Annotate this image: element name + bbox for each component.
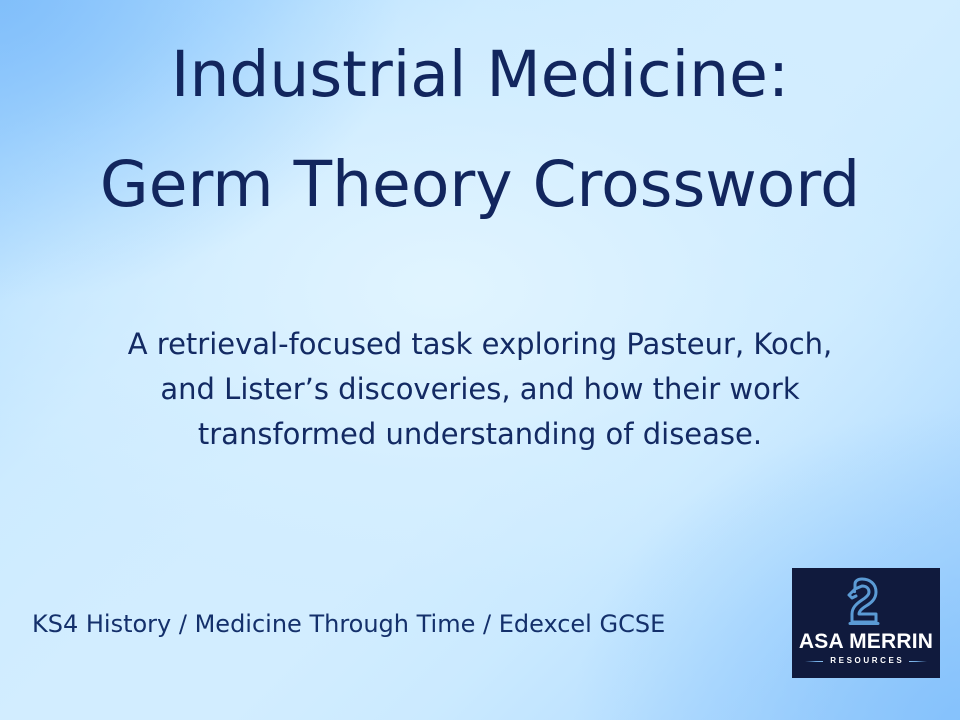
subtitle-line-1: A retrieval-focused task exploring Paste…	[24, 322, 936, 367]
subtitle-line-2: and Lister’s discoveries, and how their …	[24, 367, 936, 412]
brand-logo: ASA MERRIN RESOURCES	[792, 568, 940, 678]
presentation-slide: Industrial Medicine: Germ Theory Crosswo…	[0, 0, 960, 720]
slide-title: Industrial Medicine: Germ Theory Crosswo…	[0, 32, 960, 228]
curriculum-footer-text: KS4 History / Medicine Through Time / Ed…	[32, 608, 665, 640]
logo-rule-right	[909, 661, 927, 662]
title-line-primary: Industrial Medicine:	[0, 32, 960, 118]
title-line-secondary: Germ Theory Crossword	[0, 142, 960, 228]
logo-rule-left	[805, 661, 823, 662]
chess-knight-icon	[792, 573, 940, 631]
logo-tagline: RESOURCES	[828, 656, 905, 666]
subtitle-line-3: transformed understanding of disease.	[24, 412, 936, 457]
logo-tagline-row: RESOURCES	[792, 656, 940, 666]
slide-subtitle: A retrieval-focused task exploring Paste…	[24, 322, 936, 457]
logo-brand-name: ASA MERRIN	[792, 630, 940, 654]
slide-content: Industrial Medicine: Germ Theory Crosswo…	[0, 0, 960, 720]
